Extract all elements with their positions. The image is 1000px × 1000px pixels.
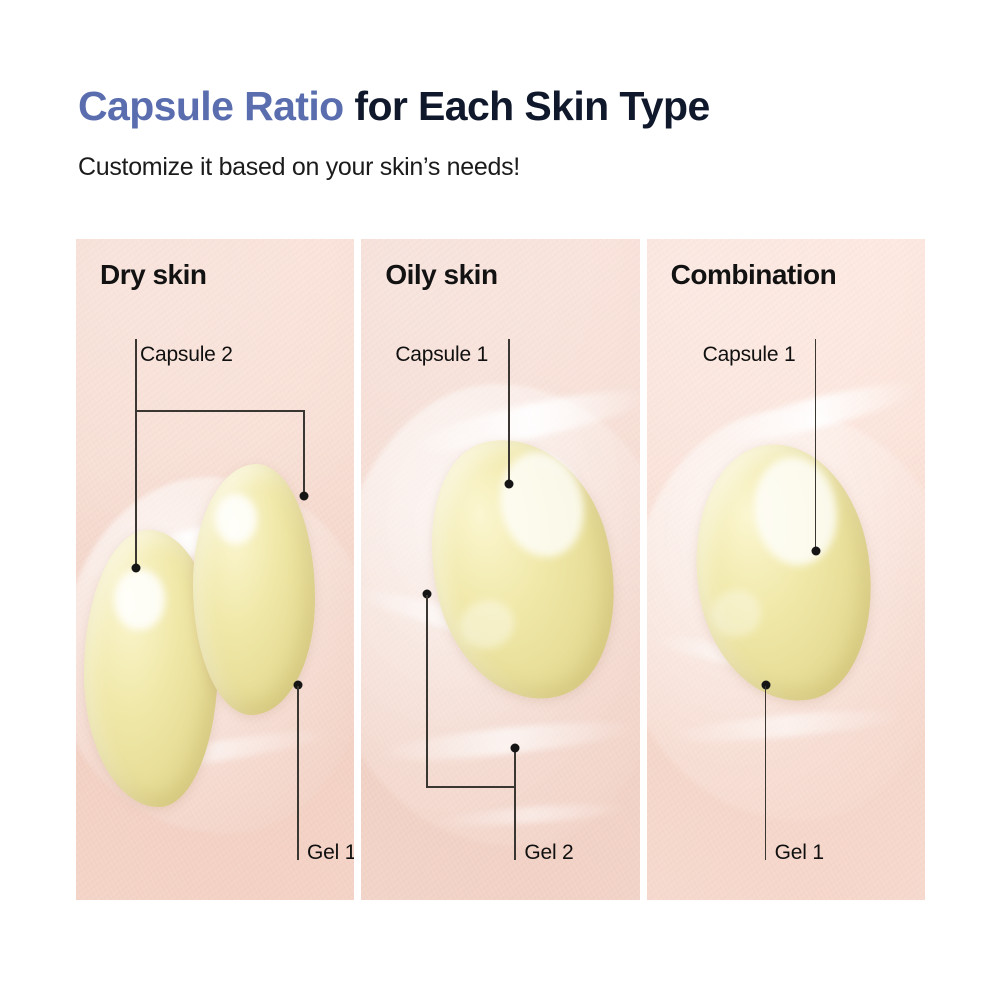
callout-line-gel-bracket bbox=[426, 786, 515, 788]
panel-title-combination-skin: Combination bbox=[671, 259, 837, 291]
callout-line-gel-left bbox=[426, 595, 428, 787]
skin-type-panel-group: Dry skin Capsule 2 Gel 1 bbox=[76, 239, 925, 900]
callout-line-capsule-drop-right bbox=[303, 410, 305, 495]
capsule-bead-right bbox=[193, 464, 315, 715]
page-subtitle: Customize it based on your skin’s needs! bbox=[78, 155, 520, 180]
panel-combination-skin: Combination Capsule 1 Gel 1 bbox=[647, 239, 925, 900]
callout-dot-capsule-left bbox=[132, 564, 141, 573]
callout-dot-capsule bbox=[811, 547, 820, 556]
callout-label-gel: Gel 1 bbox=[307, 842, 354, 863]
panel-title-oily-skin: Oily skin bbox=[385, 259, 497, 291]
panel-dry-skin: Dry skin Capsule 2 Gel 1 bbox=[76, 239, 354, 900]
callout-label-capsule: Capsule 1 bbox=[703, 344, 796, 365]
callout-dot-capsule-right bbox=[300, 492, 309, 501]
callout-line-gel bbox=[297, 686, 299, 860]
callout-label-capsule: Capsule 2 bbox=[140, 344, 233, 365]
callout-line-capsule-stem bbox=[135, 339, 137, 411]
callout-line-gel-right bbox=[514, 747, 516, 860]
page-title: Capsule Ratio for Each Skin Type bbox=[78, 86, 710, 127]
panel-title-dry-skin: Dry skin bbox=[100, 259, 207, 291]
callout-dot-gel-right bbox=[511, 744, 520, 753]
panel-oily-skin: Oily skin Capsule 1 Gel 2 bbox=[361, 239, 639, 900]
callout-line-capsule bbox=[815, 339, 817, 550]
callout-line-capsule-drop-left bbox=[135, 410, 137, 567]
page-title-accent: Capsule Ratio bbox=[78, 83, 344, 129]
callout-dot-capsule bbox=[505, 480, 514, 489]
callout-line-capsule-bracket bbox=[135, 410, 304, 412]
callout-label-gel: Gel 1 bbox=[775, 842, 824, 863]
callout-label-capsule: Capsule 1 bbox=[395, 344, 488, 365]
callout-line-capsule bbox=[508, 339, 510, 483]
page-title-rest: for Each Skin Type bbox=[344, 83, 710, 129]
callout-label-gel: Gel 2 bbox=[524, 842, 573, 863]
callout-line-gel bbox=[765, 686, 767, 860]
